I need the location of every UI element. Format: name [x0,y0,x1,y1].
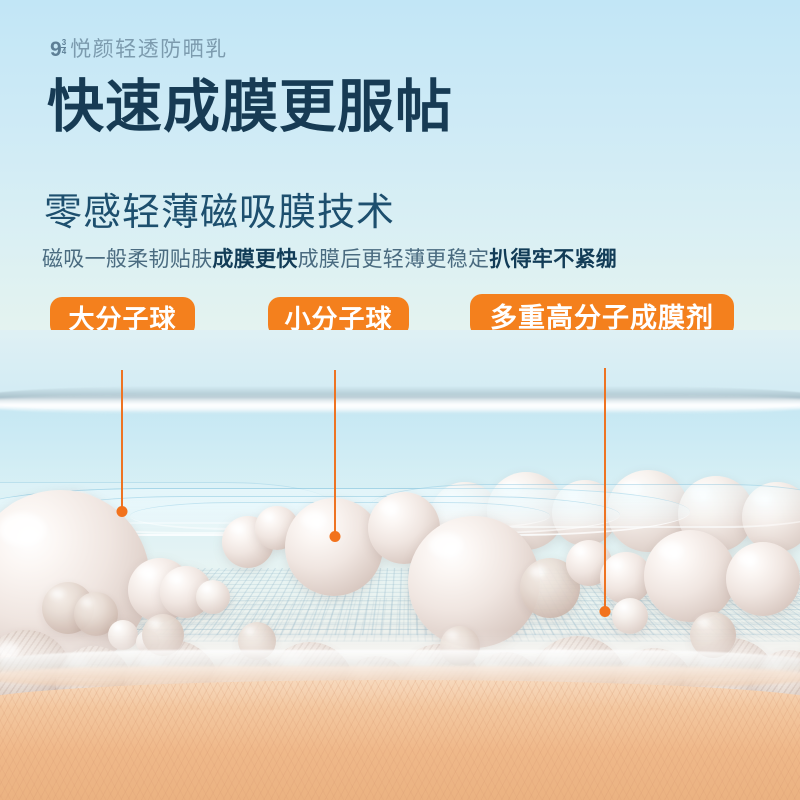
brand-line: 9 3 4 悦颜轻透防晒乳 [50,33,228,63]
brand-logo-number: 9 [50,38,61,62]
description-segment-2-bold: 成膜更快 [212,248,297,271]
subheading: 零感轻薄磁吸膜技术 [44,181,395,236]
microsphere [196,580,230,614]
pointer-line-large-molecule [121,370,123,512]
glass-container-rim-highlight [0,394,800,414]
brand-logo-fraction: 3 4 [61,39,66,55]
large-microsphere [644,530,736,622]
brand-logo-fraction-denominator: 4 [62,48,66,56]
microsphere [612,598,648,634]
pointer-line-small-molecule [334,370,336,537]
microsphere [726,542,800,616]
description-line: 磁吸一般柔韧贴肤成膜更快成膜后更轻薄更稳定扒得牢不紧绷 [42,243,617,273]
brand-logo-mark: 9 3 4 [50,38,66,62]
brand-product-name: 悦颜轻透防晒乳 [70,33,228,63]
pointer-line-polymer-film [604,368,606,612]
skin-surface-layer [0,680,800,800]
product-mechanism-illustration [0,330,800,800]
product-infographic-poster: 9 3 4 悦颜轻透防晒乳 快速成膜更服帖 零感轻薄磁吸膜技术 磁吸一般柔韧贴肤… [0,0,800,800]
description-segment-1: 磁吸一般柔韧贴肤 [42,248,212,271]
description-segment-3: 成膜后更轻薄更稳定 [298,248,490,271]
description-segment-4-bold: 扒得牢不紧绷 [489,248,617,271]
headline: 快速成膜更服帖 [47,78,453,138]
